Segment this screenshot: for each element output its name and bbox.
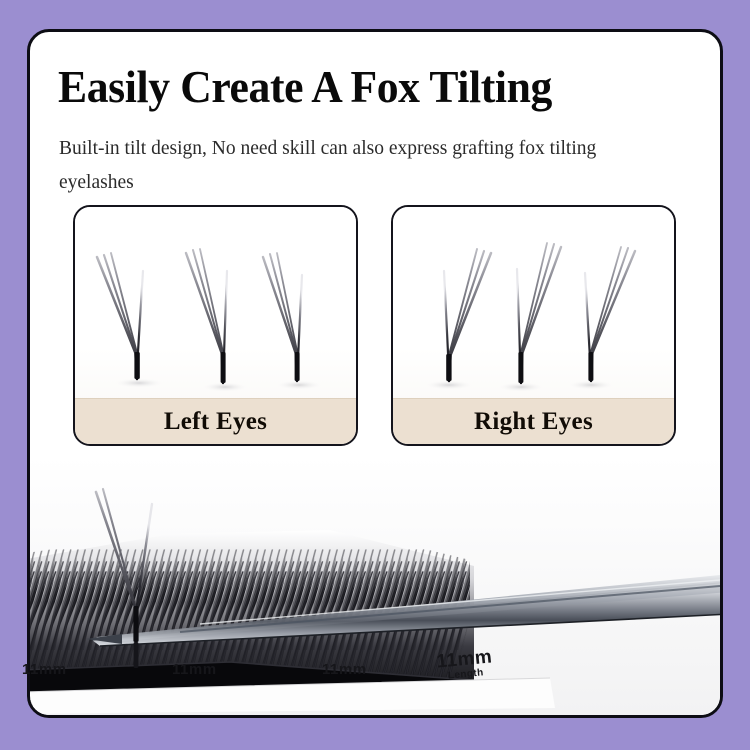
panel-right-eyes: Right Eyes <box>391 205 676 446</box>
right-lash-fans-svg <box>393 207 676 403</box>
length-tag: 11mm Length <box>436 647 495 683</box>
left-lash-fans-svg <box>75 207 358 403</box>
panel-left-eyes: Left Eyes <box>73 205 358 446</box>
ruler-label-2: 11mm <box>172 661 217 678</box>
lash-fan <box>186 249 249 392</box>
product-photo-scene <box>30 456 720 718</box>
page-title: Easily Create A Fox Tilting <box>58 64 679 111</box>
panel-label-right-eyes: Right Eyes <box>393 398 674 444</box>
content-card: Easily Create A Fox Tilting Built-in til… <box>27 29 723 718</box>
right-eyes-illustration <box>393 207 674 403</box>
panel-label-left-eyes: Left Eyes <box>75 398 356 444</box>
ruler-label-3: 11mm <box>322 661 367 678</box>
lash-fan <box>263 253 323 390</box>
left-eyes-illustration <box>75 207 356 403</box>
ruler-label-1: 11mm <box>22 661 67 678</box>
page-subtitle: Built-in tilt design, No need skill can … <box>59 132 659 200</box>
product-photo-svg <box>30 456 720 718</box>
lash-fan <box>424 249 491 390</box>
lash-fan <box>567 247 635 390</box>
lash-fan <box>497 243 561 392</box>
product-banner: Easily Create A Fox Tilting Built-in til… <box>0 0 750 750</box>
lash-fan <box>97 253 165 388</box>
